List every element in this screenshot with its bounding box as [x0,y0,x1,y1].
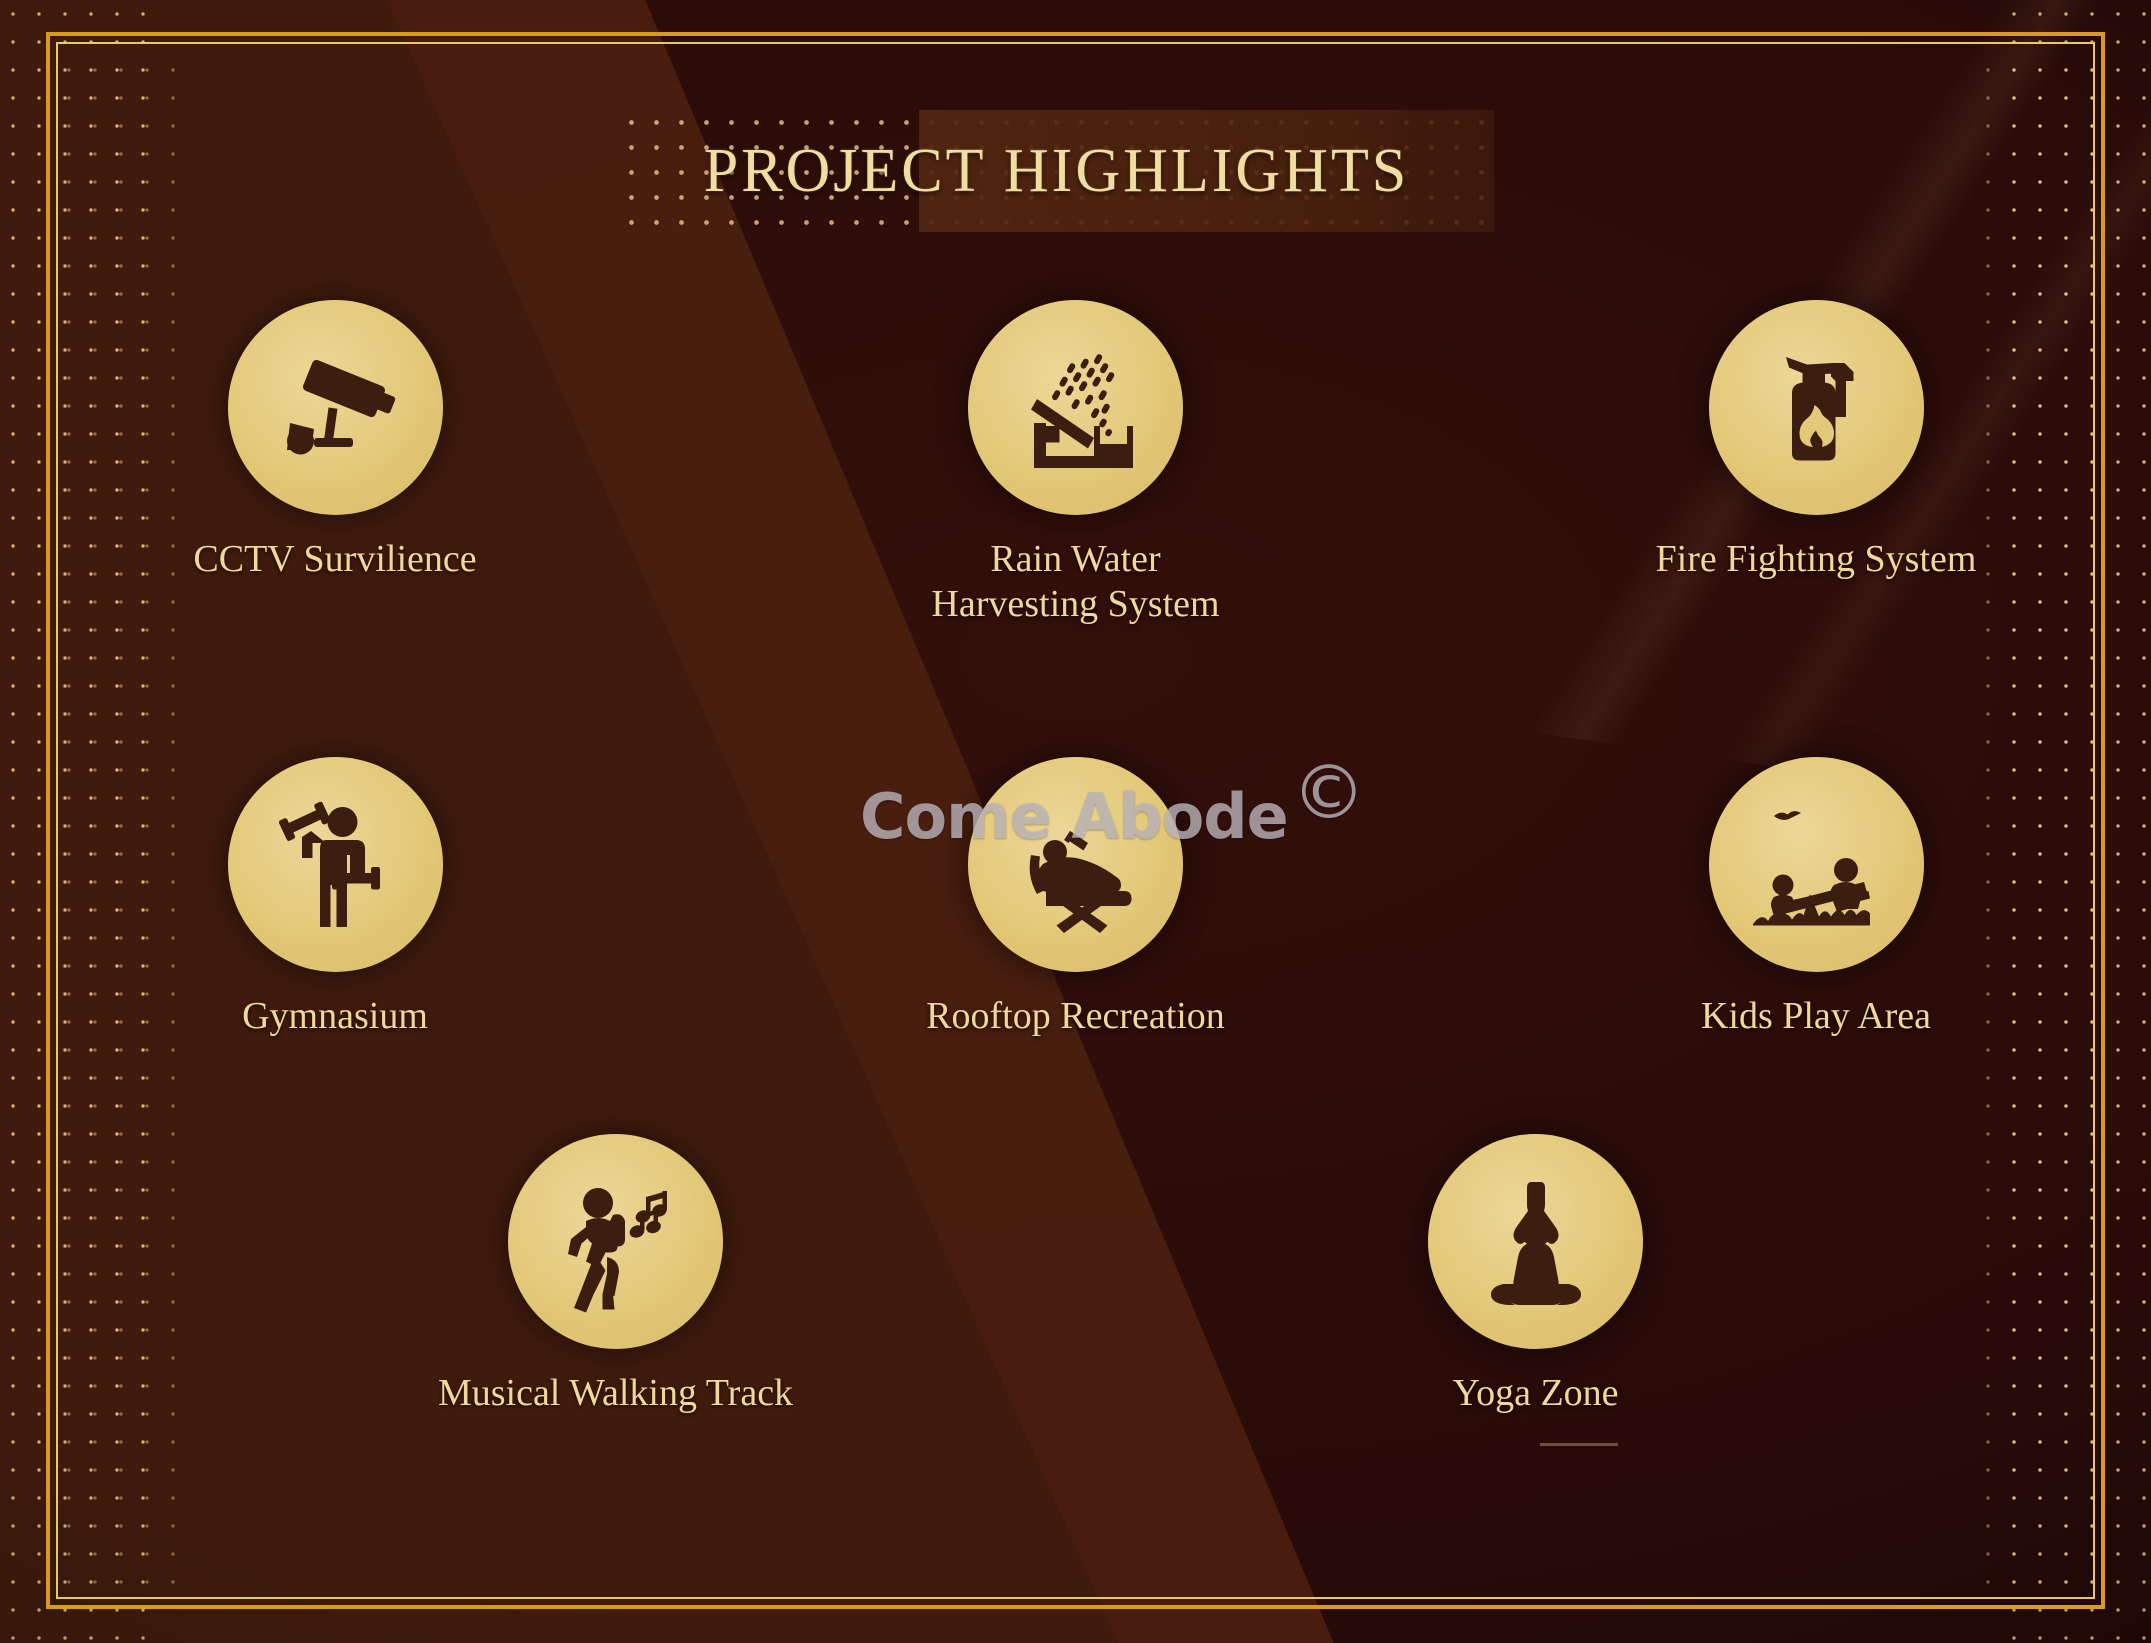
highlights-row: Musical Walking Track [120,1134,2031,1416]
row-spacer [120,627,2031,757]
highlights-row: CCTV Survilience [120,300,2031,627]
highlight-rooftop-recreation[interactable]: Rooftop Recreation [861,757,1291,1039]
lounge-chair-person-icon [968,757,1183,972]
dumbbell-person-icon [228,757,443,972]
highlight-kids-play-area[interactable]: Kids Play Area [1601,757,2031,1039]
page-title: PROJECT HIGHLIGHTS [619,110,1494,232]
rain-water-harvesting-icon [968,300,1183,515]
walking-person-music-icon [508,1134,723,1349]
highlight-cctv-survilience[interactable]: CCTV Survilience [120,300,550,627]
highlight-label: CCTV Survilience [193,537,476,582]
watermark-underline [1540,1443,1618,1446]
highlight-label: Rooftop Recreation [926,994,1225,1039]
highlight-fire-fighting-system[interactable]: Fire Fighting System [1601,300,2031,627]
fire-extinguisher-icon [1709,300,1924,515]
highlight-musical-walking-track[interactable]: Musical Walking Track [401,1134,831,1416]
highlight-yoga-zone[interactable]: Yoga Zone [1321,1134,1751,1416]
cctv-camera-icon [228,300,443,515]
highlight-label: Gymnasium [242,994,428,1039]
highlights-row: Gymnasium [120,757,2031,1039]
highlight-label: Yoga Zone [1452,1371,1618,1416]
highlight-label-line-2: Harvesting System [931,583,1219,625]
highlight-label-line-1: Rain Water [990,538,1160,580]
highlight-label: Fire Fighting System [1656,537,1977,582]
highlight-label: Kids Play Area [1701,994,1931,1039]
row-spacer [120,1038,2031,1134]
highlight-rain-water-harvesting[interactable]: Rain Water Harvesting System [861,300,1291,627]
highlight-gymnasium[interactable]: Gymnasium [120,757,550,1039]
poster-canvas: PROJECT HIGHLIGHTS [0,0,2151,1643]
yoga-meditation-icon [1428,1134,1643,1349]
highlights-grid: CCTV Survilience [120,300,2031,1416]
title-band: PROJECT HIGHLIGHTS [619,110,1494,232]
highlight-label: Rain Water Harvesting System [931,537,1219,627]
highlight-label: Musical Walking Track [438,1371,793,1416]
seesaw-children-icon [1709,757,1924,972]
